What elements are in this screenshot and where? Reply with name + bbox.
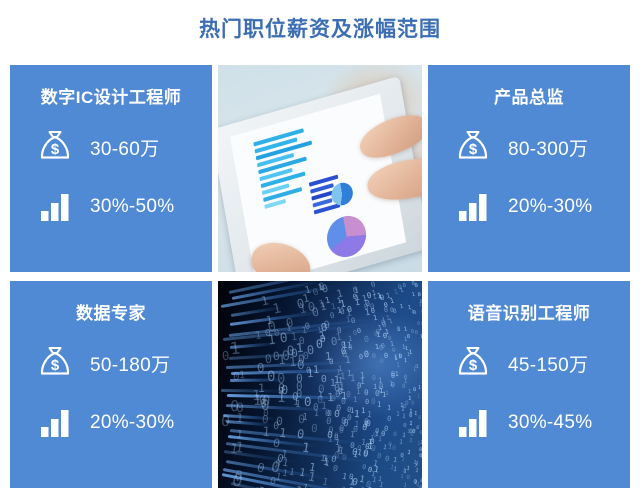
tablet-analytics-photo bbox=[218, 65, 422, 272]
card-stats: $ 50-180万 20%-30% bbox=[10, 340, 212, 446]
money-bag-icon: $ bbox=[32, 341, 78, 385]
growth-row: 20%-30% bbox=[32, 400, 212, 446]
card-stats: $ 80-300万 20%-30% bbox=[428, 124, 630, 230]
growth-value: 20%-30% bbox=[508, 196, 592, 218]
growth-value: 20%-30% bbox=[90, 412, 174, 434]
salary-value: 30-60万 bbox=[90, 134, 159, 161]
money-bag-icon: $ bbox=[32, 125, 78, 169]
growth-row: 20%-30% bbox=[450, 184, 630, 230]
bar-chart-icon bbox=[32, 185, 78, 229]
salary-row: $ 30-60万 bbox=[32, 124, 212, 170]
chart-bars-group-1 bbox=[253, 127, 320, 209]
card-stats: $ 45-150万 30%-45% bbox=[428, 340, 630, 446]
card-title: 数字IC设计工程师 bbox=[10, 83, 212, 108]
growth-value: 30%-45% bbox=[508, 412, 592, 434]
bar-chart-icon bbox=[450, 185, 496, 229]
svg-text:$: $ bbox=[469, 357, 478, 374]
salary-row: $ 45-150万 bbox=[450, 340, 630, 386]
salary-value: 45-150万 bbox=[508, 350, 588, 377]
card-stats: $ 30-60万 30%-50% bbox=[10, 124, 212, 230]
title-bar: 热门职位薪资及涨幅范围 bbox=[0, 0, 640, 56]
card-title: 产品总监 bbox=[428, 83, 630, 108]
job-card-product-director[interactable]: 产品总监 $ 80-300万 bbox=[428, 65, 630, 272]
card-title: 语音识别工程师 bbox=[428, 299, 630, 324]
svg-text:$: $ bbox=[51, 357, 60, 374]
money-bag-icon: $ bbox=[450, 125, 496, 169]
salary-value: 50-180万 bbox=[90, 350, 170, 377]
card-title: 数据专家 bbox=[10, 299, 212, 324]
salary-row: $ 80-300万 bbox=[450, 124, 630, 170]
growth-value: 30%-50% bbox=[90, 196, 174, 218]
job-card-speech-recognition-engineer[interactable]: 语音识别工程师 $ 45-150万 bbox=[428, 281, 630, 488]
page-title: 热门职位薪资及涨幅范围 bbox=[199, 13, 441, 43]
money-bag-icon: $ bbox=[450, 341, 496, 385]
svg-text:$: $ bbox=[469, 141, 478, 158]
svg-text:$: $ bbox=[51, 141, 60, 158]
bar-chart-icon bbox=[450, 401, 496, 445]
binary-digits-layer: 1100100011111110110110010010110101010101… bbox=[218, 281, 422, 488]
salary-value: 80-300万 bbox=[508, 134, 588, 161]
growth-row: 30%-50% bbox=[32, 184, 212, 230]
job-card-digital-ic-design-engineer[interactable]: 数字IC设计工程师 $ 30-60万 bbox=[10, 65, 212, 272]
job-card-data-expert[interactable]: 数据专家 $ 50-180万 bbox=[10, 281, 212, 488]
infographic-page: 热门职位薪资及涨幅范围 数字IC设计工程师 $ 30-60万 bbox=[0, 0, 640, 494]
cards-grid: 数字IC设计工程师 $ 30-60万 bbox=[10, 65, 630, 488]
binary-data-photo: 1100100011111110110110010010110101010101… bbox=[218, 281, 422, 488]
bar-chart-icon bbox=[32, 401, 78, 445]
salary-row: $ 50-180万 bbox=[32, 340, 212, 386]
large-pie-chart bbox=[324, 211, 369, 262]
growth-row: 30%-45% bbox=[450, 400, 630, 446]
